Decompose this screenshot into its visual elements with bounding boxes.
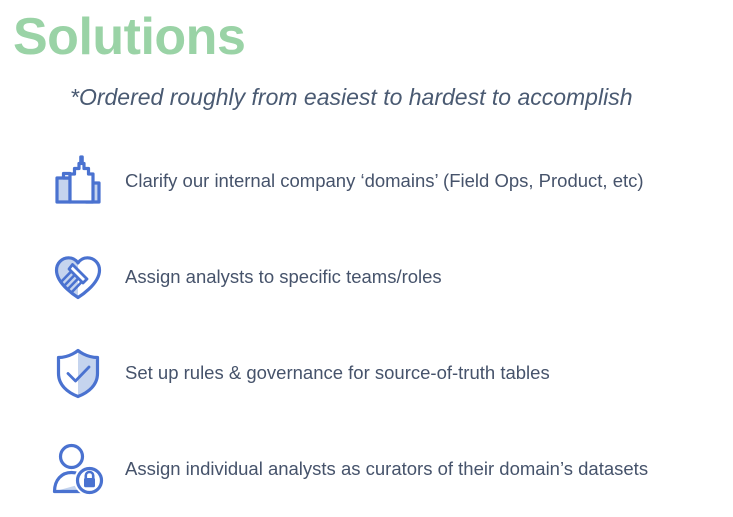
list-item: Clarify our internal company ‘domains’ (… xyxy=(0,133,733,229)
page-subtitle: *Ordered roughly from easiest to hardest… xyxy=(70,84,633,112)
list-item-label: Set up rules & governance for source-of-… xyxy=(125,361,550,384)
page-title: Solutions xyxy=(13,8,245,68)
solutions-slide: Solutions *Ordered roughly from easiest … xyxy=(0,0,733,516)
person-lock-icon xyxy=(43,434,113,504)
list-item-label: Clarify our internal company ‘domains’ (… xyxy=(125,169,644,192)
list-item-label: Assign individual analysts as curators o… xyxy=(125,457,648,480)
city-buildings-icon xyxy=(43,146,113,216)
heart-handshake-icon xyxy=(43,242,113,312)
shield-check-icon xyxy=(43,338,113,408)
list-item-label: Assign analysts to specific teams/roles xyxy=(125,265,442,288)
solutions-list: Clarify our internal company ‘domains’ (… xyxy=(0,133,733,517)
list-item: Assign analysts to specific teams/roles xyxy=(0,229,733,325)
list-item: Set up rules & governance for source-of-… xyxy=(0,325,733,421)
list-item: Assign individual analysts as curators o… xyxy=(0,421,733,517)
